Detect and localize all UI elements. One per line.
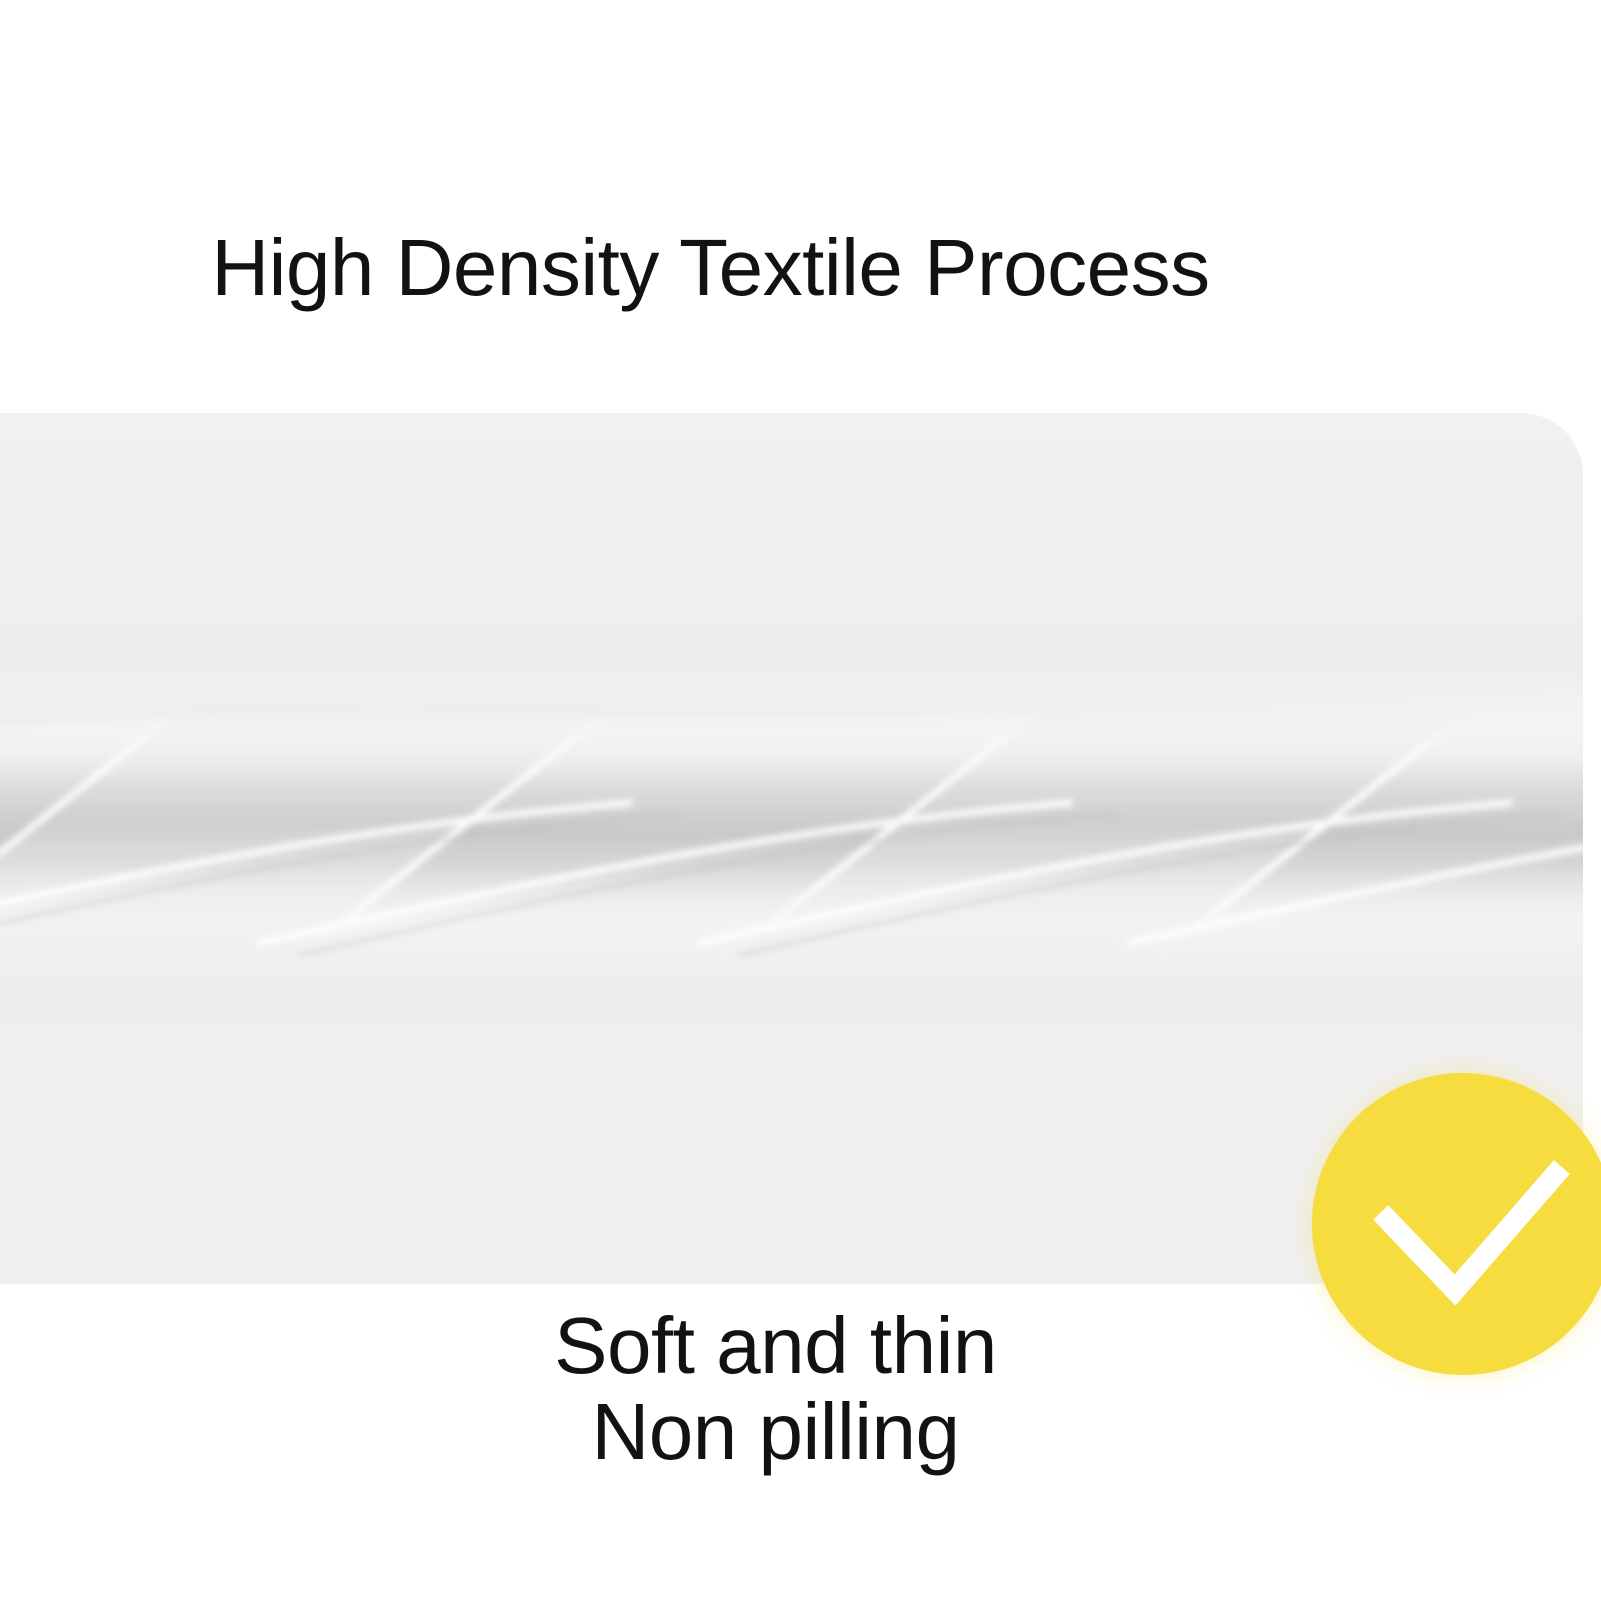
caption-line-2: Non pilling	[0, 1389, 1551, 1475]
feature-caption: Soft and thin Non pilling	[0, 1303, 1601, 1475]
product-feature-card: High Density Textile Process	[0, 0, 1601, 1601]
page-title: High Density Textile Process	[0, 228, 1601, 308]
twisted-yarn-illustration	[0, 675, 1583, 975]
caption-line-1: Soft and thin	[0, 1303, 1551, 1389]
yarn-strands-graphic	[0, 675, 1583, 975]
